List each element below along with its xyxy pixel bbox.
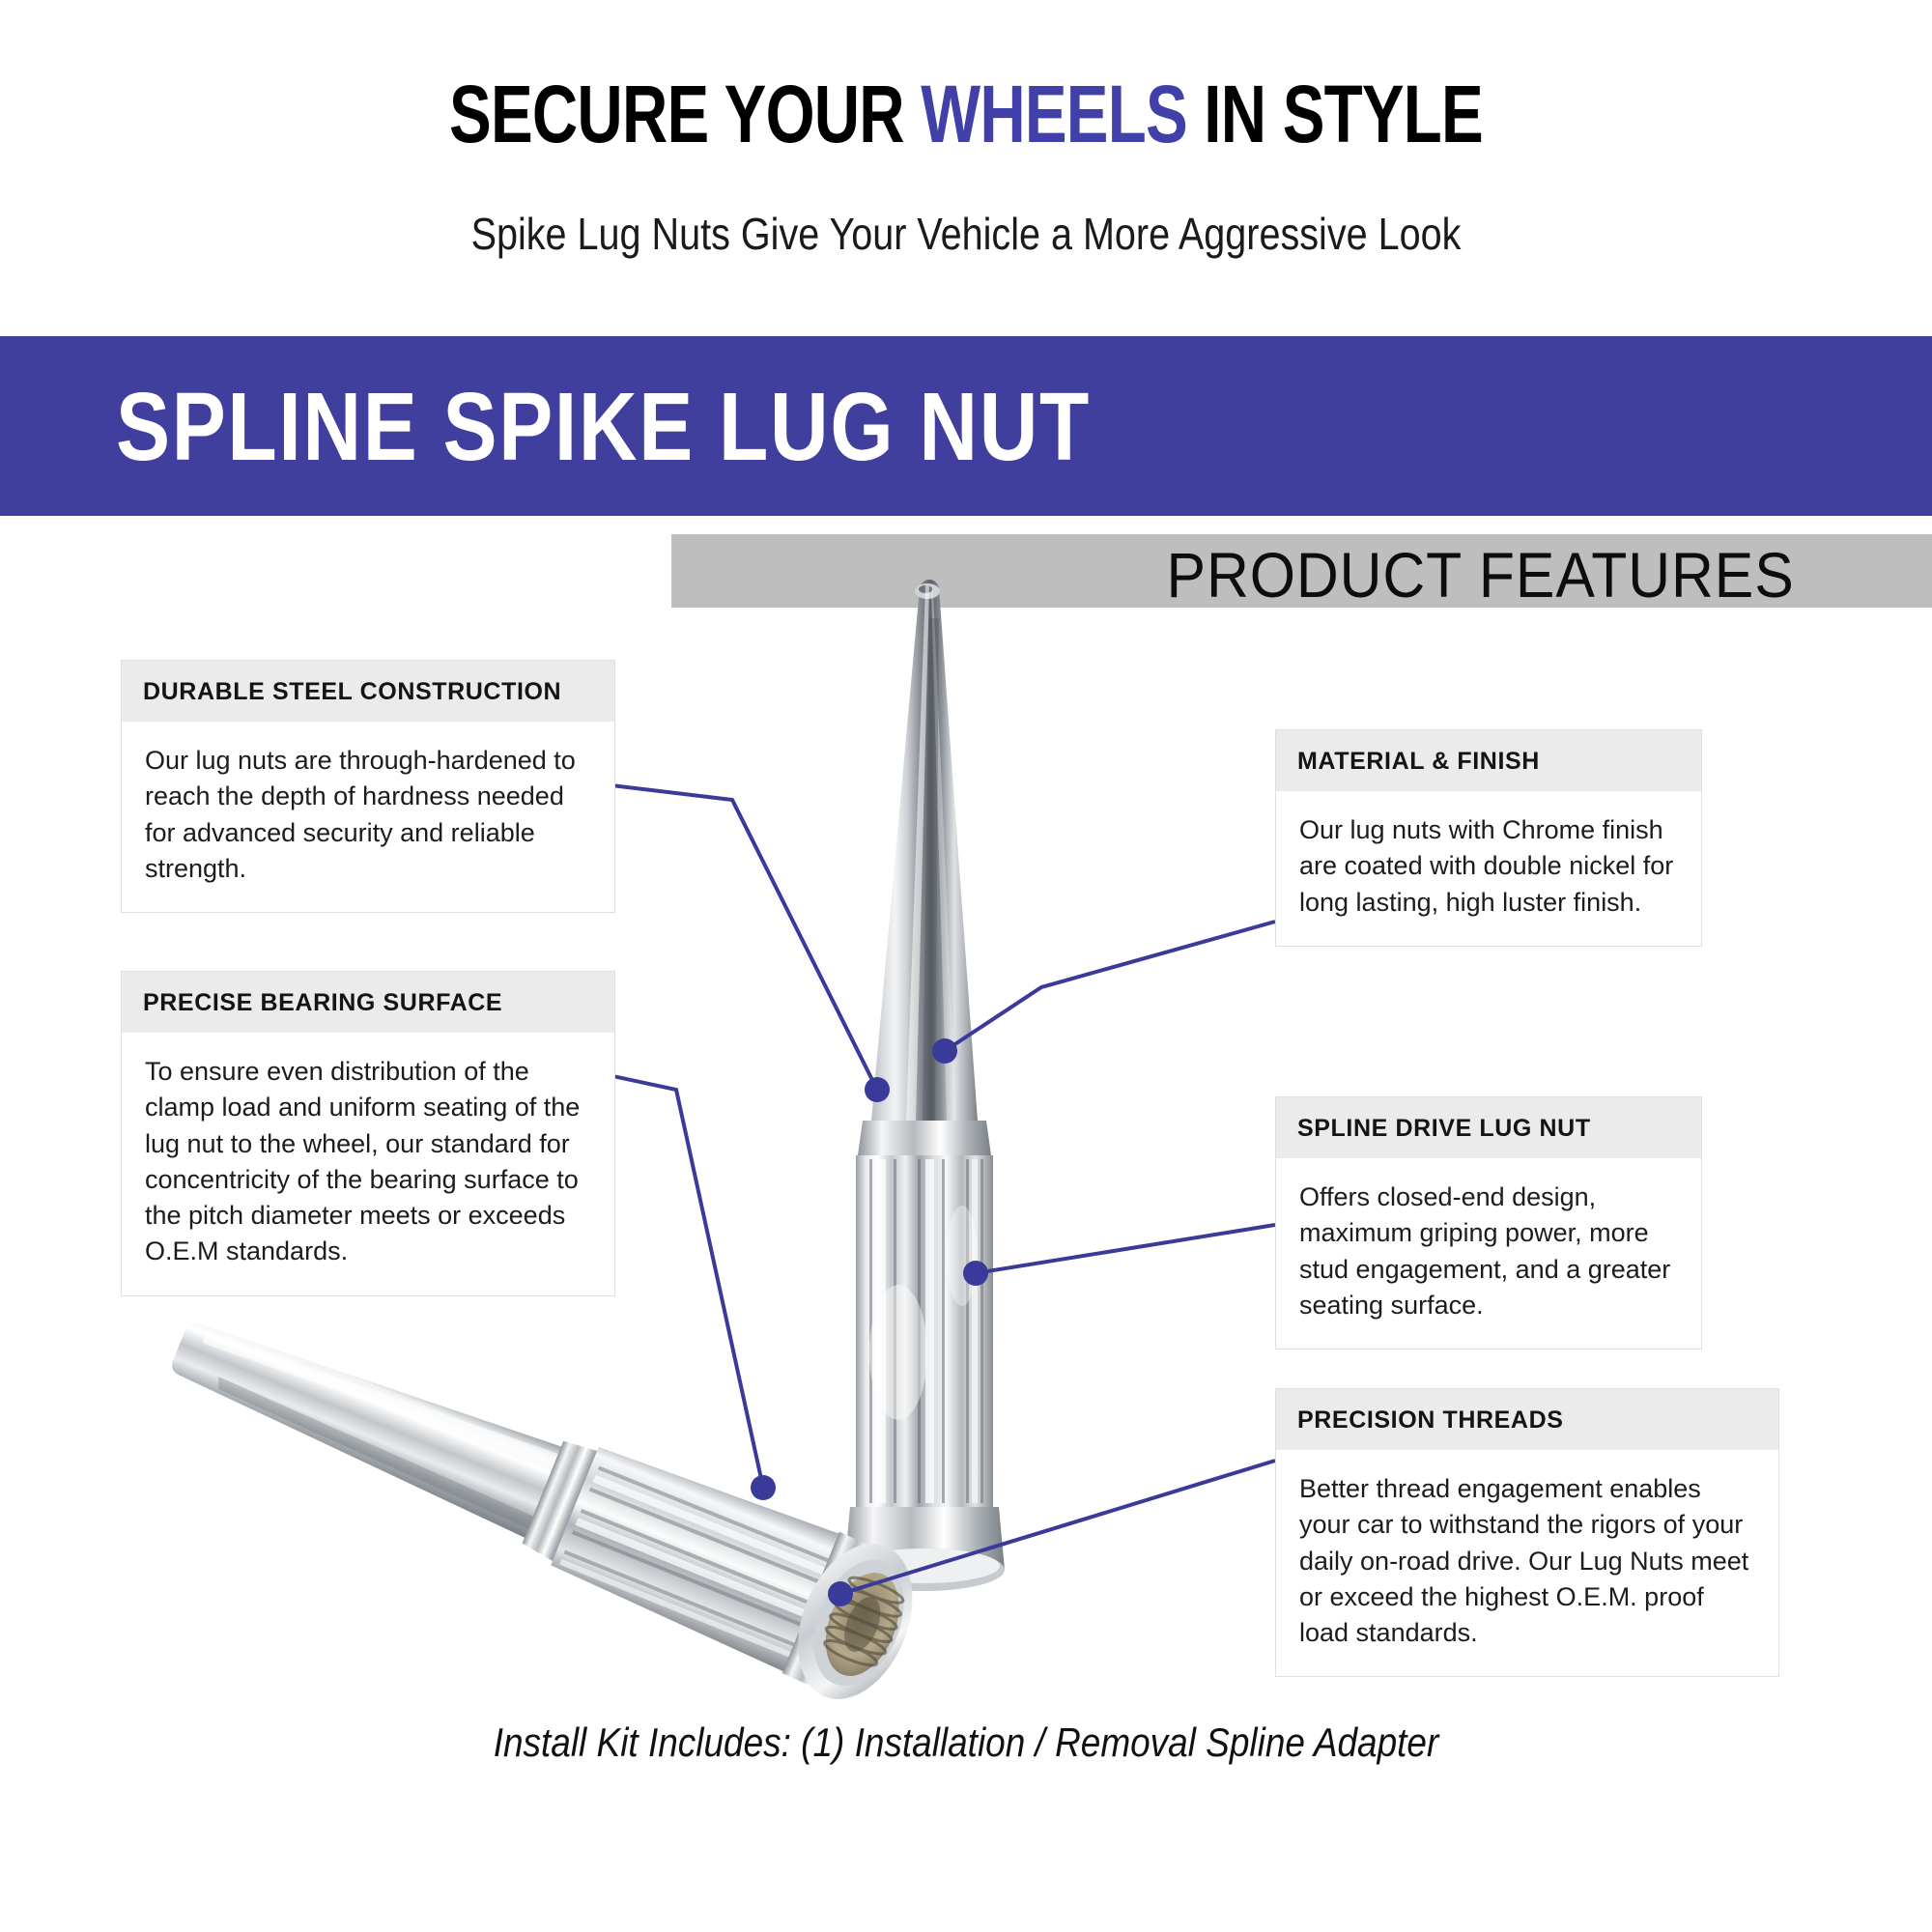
leader-dot-material-finish	[932, 1038, 957, 1064]
leader-dot-precision-threads	[828, 1581, 853, 1606]
feature-body-durable-steel-construction: Our lug nuts are through-hardened to rea…	[122, 722, 614, 912]
leader-dot-durable-steel	[865, 1077, 890, 1102]
install-kit-note: Install Kit Includes: (1) Installation /…	[116, 1719, 1816, 1766]
infographic-canvas: SECURE YOUR WHEELS IN STYLE Spike Lug Nu…	[0, 0, 1932, 1932]
feature-box-spline-drive-lug-nut: SPLINE DRIVE LUG NUT Offers closed-end d…	[1275, 1096, 1702, 1350]
feature-body-precise-bearing-surface: To ensure even distribution of the clamp…	[122, 1033, 614, 1295]
leader-dot-spline-drive	[963, 1261, 988, 1286]
feature-body-precision-threads: Better thread engagement enables your ca…	[1276, 1450, 1778, 1676]
leader-line-precision-threads	[840, 1461, 1275, 1594]
feature-title-precise-bearing-surface: PRECISE BEARING SURFACE	[122, 972, 614, 1033]
feature-title-spline-drive-lug-nut: SPLINE DRIVE LUG NUT	[1276, 1097, 1701, 1158]
leader-line-spline-drive	[976, 1225, 1275, 1273]
feature-body-spline-drive-lug-nut: Offers closed-end design, maximum gripin…	[1276, 1158, 1701, 1349]
leader-line-material-finish	[945, 922, 1275, 1051]
feature-box-durable-steel-construction: DURABLE STEEL CONSTRUCTION Our lug nuts …	[121, 660, 615, 913]
leader-line-durable-steel	[604, 784, 877, 1090]
feature-title-precision-threads: PRECISION THREADS	[1276, 1389, 1778, 1450]
feature-box-material-and-finish: MATERIAL & FINISH Our lug nuts with Chro…	[1275, 729, 1702, 947]
feature-body-material-and-finish: Our lug nuts with Chrome finish are coat…	[1276, 791, 1701, 946]
feature-box-precise-bearing-surface: PRECISE BEARING SURFACE To ensure even d…	[121, 971, 615, 1296]
leader-dot-precise-bearing	[751, 1475, 776, 1500]
leader-line-precise-bearing	[604, 1074, 763, 1488]
feature-title-material-and-finish: MATERIAL & FINISH	[1276, 730, 1701, 791]
feature-title-durable-steel-construction: DURABLE STEEL CONSTRUCTION	[122, 661, 614, 722]
feature-box-precision-threads: PRECISION THREADS Better thread engageme…	[1275, 1388, 1779, 1677]
